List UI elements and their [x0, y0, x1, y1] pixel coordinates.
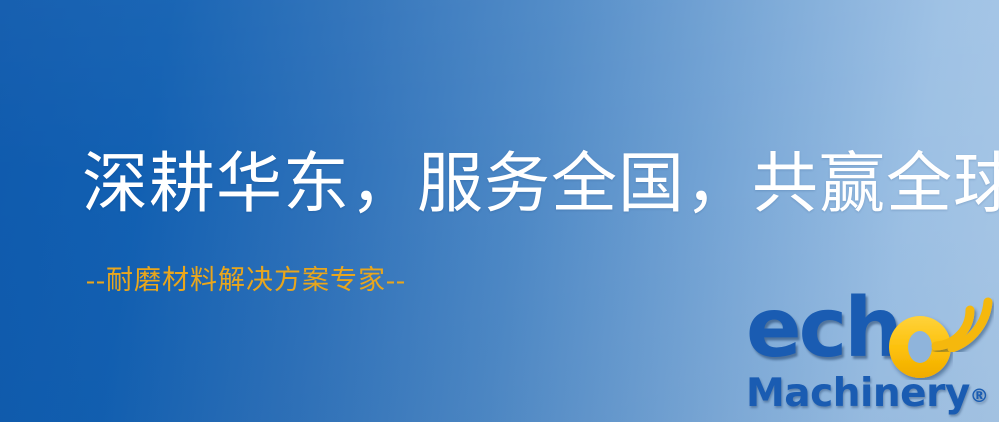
logo-machinery-text: Machinery® — [746, 374, 989, 413]
promo-banner: 深耕华东，服务全国，共赢全球 --耐磨材料解决方案专家-- ech — [0, 0, 999, 422]
registered-trademark-icon: ® — [970, 385, 989, 407]
logo-wordmark: ech — [744, 294, 999, 380]
logo-company-name: Machinery — [746, 371, 970, 416]
banner-headline: 深耕华东，服务全国，共赢全球 — [82, 152, 999, 218]
logo-echo-arcs-icon — [930, 290, 994, 352]
banner-subtitle: --耐磨材料解决方案专家-- — [86, 267, 406, 294]
echo-machinery-logo[interactable]: ech — [744, 294, 999, 422]
logo-echo-text: ech — [746, 288, 900, 370]
